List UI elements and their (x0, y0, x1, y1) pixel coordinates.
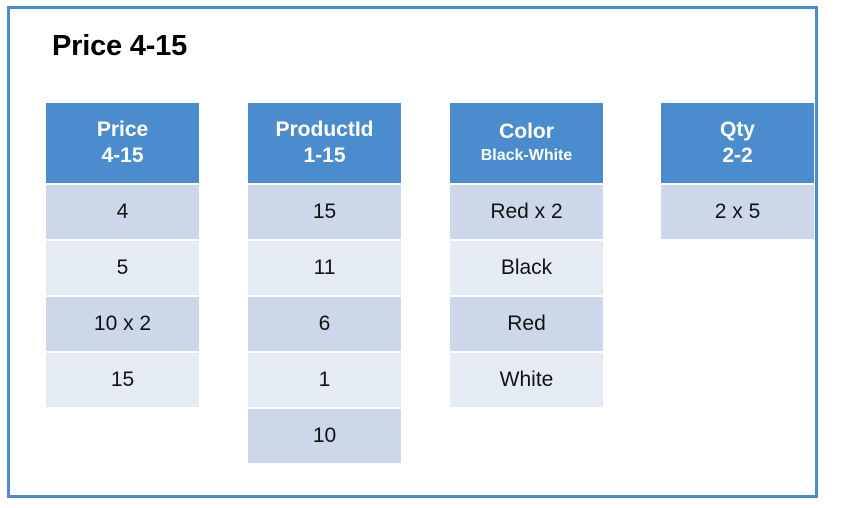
table-cell: 2 x 5 (661, 185, 814, 239)
column-header-title: ProductId (276, 119, 374, 141)
column-header-title: Qty (720, 119, 755, 141)
page-title: Price 4-15 (52, 30, 187, 63)
table-cell: 11 (248, 241, 401, 295)
table-cell: Red x 2 (450, 185, 603, 239)
column-header-title: Price (97, 119, 148, 141)
column-header-subtitle: Black-White (481, 148, 573, 165)
table-cell: 4 (46, 185, 199, 239)
table-cell: 10 (248, 409, 401, 463)
table-cell: 10 x 2 (46, 297, 199, 351)
column-header-subtitle: 2-2 (722, 145, 752, 167)
column-header-price: Price 4-15 (46, 103, 199, 183)
table-cell: 15 (46, 353, 199, 407)
column-color: Color Black-White Red x 2 Black Red Whit… (450, 103, 603, 409)
column-price: Price 4-15 4 5 10 x 2 15 (46, 103, 199, 409)
table-cell: Black (450, 241, 603, 295)
column-header-productid: ProductId 1-15 (248, 103, 401, 183)
column-productid: ProductId 1-15 15 11 6 1 10 (248, 103, 401, 465)
table-cell: 15 (248, 185, 401, 239)
table-cell: 6 (248, 297, 401, 351)
table-cell: Red (450, 297, 603, 351)
column-header-qty: Qty 2-2 (661, 103, 814, 183)
column-header-color: Color Black-White (450, 103, 603, 183)
table-cell: 1 (248, 353, 401, 407)
table-cell: White (450, 353, 603, 407)
column-header-subtitle: 1-15 (303, 145, 345, 167)
column-header-title: Color (499, 121, 554, 143)
table-cell: 5 (46, 241, 199, 295)
column-header-subtitle: 4-15 (101, 145, 143, 167)
column-group: Price 4-15 4 5 10 x 2 15 ProductId 1-15 … (39, 103, 819, 483)
column-qty: Qty 2-2 2 x 5 (661, 103, 814, 241)
slide-canvas: Price 4-15 Price 4-15 4 5 10 x 2 15 Prod… (7, 6, 818, 498)
